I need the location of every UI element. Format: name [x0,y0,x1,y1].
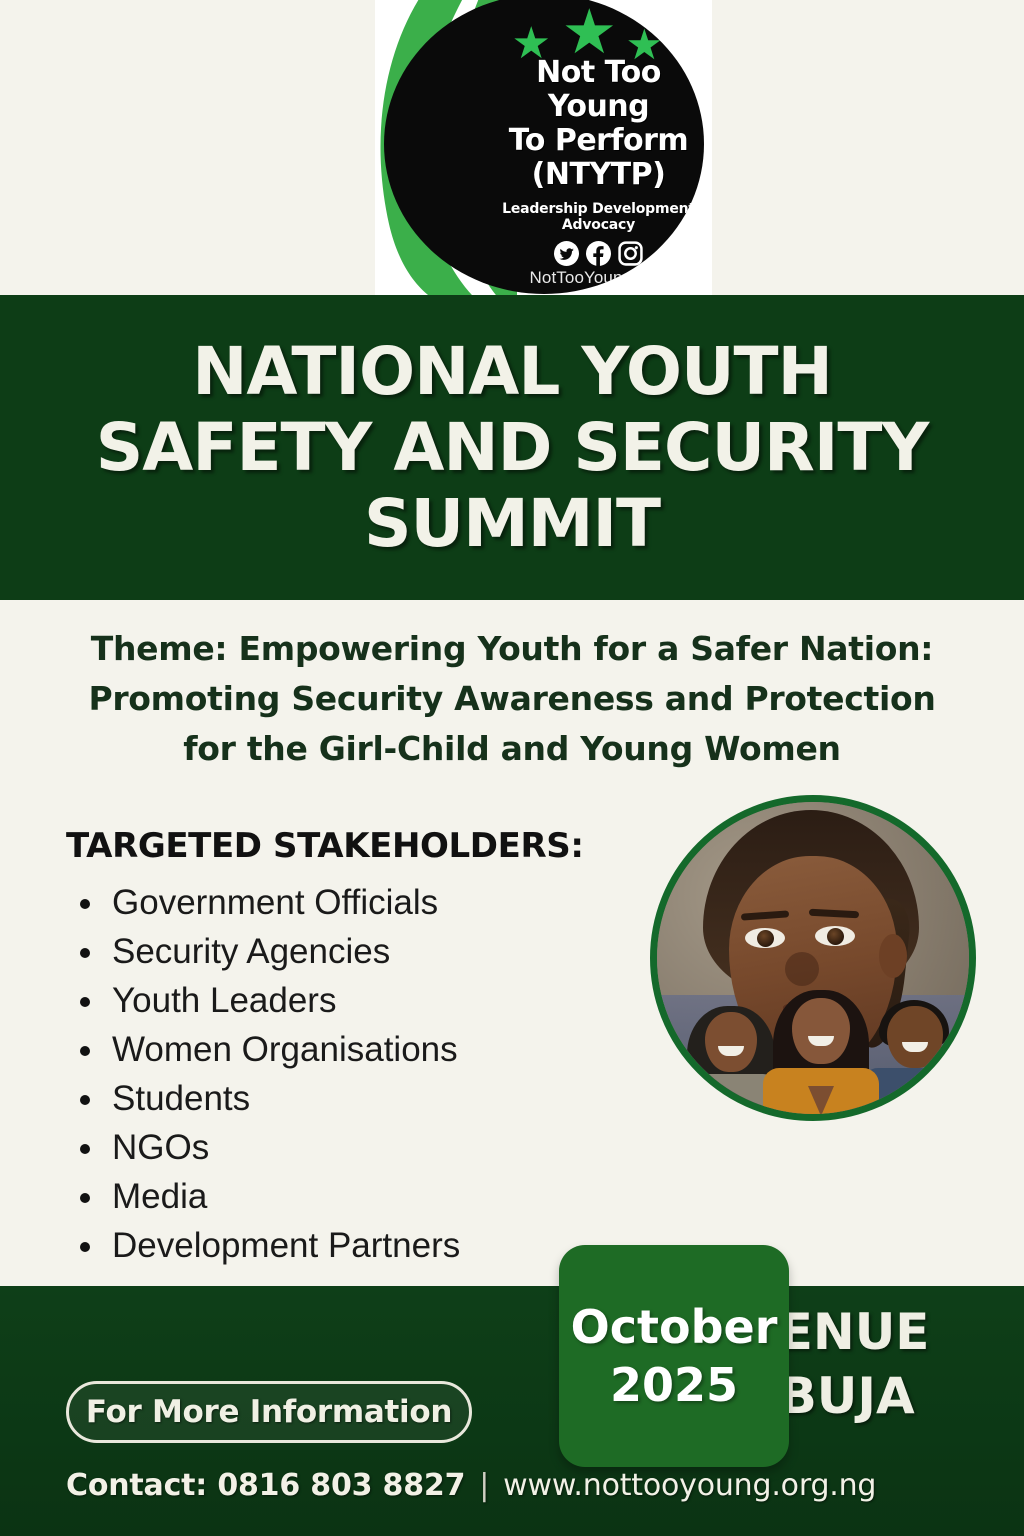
list-item: Government Officials [66,878,626,927]
theme-line-2: Promoting Security Awareness and Protect… [62,674,962,724]
stakeholders-list: Government Officials Security Agencies Y… [66,878,626,1270]
title-banner: NATIONAL YOUTH SAFETY AND SECURITY SUMMI… [0,295,1024,600]
organization-logo: ★ ★ ★ Not Too Young To Perform (NTYTP) L… [375,0,712,296]
page-title: NATIONAL YOUTH SAFETY AND SECURITY SUMMI… [32,334,992,562]
event-theme: Theme: Empowering Youth for a Safer Nati… [62,624,962,774]
list-item: Media [66,1172,626,1221]
logo-disc: ★ ★ ★ Not Too Young To Perform (NTYTP) L… [384,0,704,294]
list-item: Youth Leaders [66,976,626,1025]
stakeholders-heading: TARGETED STAKEHOLDERS: [66,826,584,866]
logo-tagline: Leadership Development Advocacy [496,201,702,233]
title-line-3: SUMMIT [32,486,992,562]
more-information-label: For More Information [86,1394,452,1430]
logo-line-3: (NTYTP) [496,158,702,192]
circular-photo-frame [650,795,976,1121]
twitter-icon [554,241,579,266]
contact-bar: Contact: 0816 803 8827 | www.nottooyoung… [66,1468,876,1503]
title-line-1: NATIONAL YOUTH [32,334,992,410]
date-year: 2025 [610,1356,738,1414]
list-item: Security Agencies [66,927,626,976]
list-item: Students [66,1074,626,1123]
list-item: NGOs [66,1123,626,1172]
contact-separator: | [479,1468,489,1503]
list-item: Development Partners [66,1221,626,1270]
instagram-icon [618,241,643,266]
poster-canvas: ★ ★ ★ Not Too Young To Perform (NTYTP) L… [0,0,1024,1536]
date-month: October [571,1298,778,1356]
photo-collage [650,795,976,1121]
contact-phone[interactable]: Contact: 0816 803 8827 [66,1468,465,1503]
social-icons [496,241,702,266]
logo-line-2: To Perform [496,124,702,158]
theme-line-1: Theme: Empowering Youth for a Safer Nati… [62,624,962,674]
logo-line-1: Not Too Young [496,56,702,124]
three-stars-icon: ★ ★ ★ [506,0,696,56]
logo-handle: NotTooYoungClub [496,268,702,288]
theme-line-3: for the Girl-Child and Young Women [62,724,962,774]
facebook-icon [586,241,611,266]
person-center [761,988,881,1116]
group-photo-image [665,984,976,1116]
list-item: Women Organisations [66,1025,626,1074]
website-link[interactable]: www.nottooyoung.org.ng [503,1468,876,1503]
title-line-2: SAFETY AND SECURITY [32,410,992,486]
date-badge: October 2025 [559,1245,789,1467]
more-information-button[interactable]: For More Information [66,1381,472,1443]
